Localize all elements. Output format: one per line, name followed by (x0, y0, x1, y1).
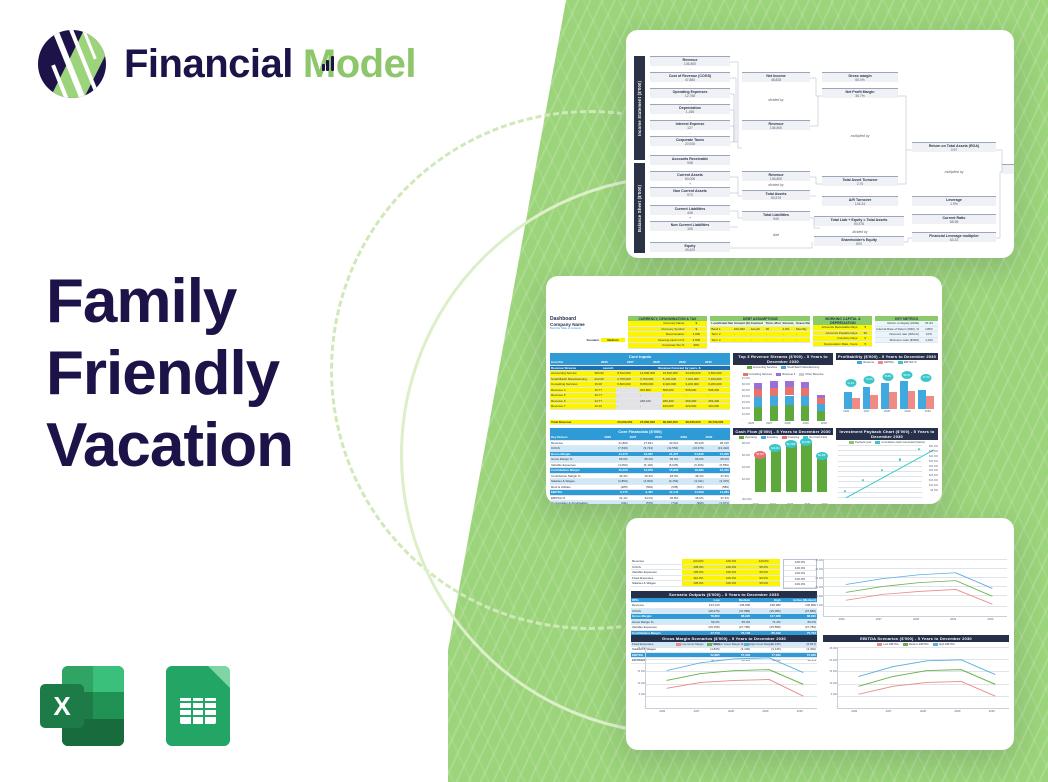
key-metrics-panel: KEY METRICS Return on Equity (ROE)61.03 … (875, 316, 938, 350)
financial-model-logo-icon (36, 28, 108, 100)
node-shareholders-equity: Shareholder's Equity800 (814, 236, 904, 246)
data-label: $12,608 (785, 440, 797, 448)
chart-series-lines (838, 647, 1009, 708)
data-label: 38.0% (901, 371, 912, 379)
data-label: $8,404 (754, 451, 766, 459)
data-label: 31.1% (845, 379, 856, 387)
core-financials-header: Core Financials ($'000) (550, 428, 730, 435)
chart-y-axis-labels: 35,00030,000 25,00020,000 15,0005,000 - (810, 559, 823, 616)
chart-plot-area: $50,000$45,000 $40,000$35,000 $30,000$25… (836, 445, 938, 504)
sheets-doc-body (166, 666, 230, 746)
dashboard-note: Build the Table of Contents (550, 327, 625, 330)
core-financials-table: Core Financials ($'000) Key Drivers20262… (550, 428, 730, 504)
dashboard-screenshot[interactable]: Dashboard Company Name Build the Table o… (546, 276, 942, 504)
brand-wordmark: FinancialModel (124, 42, 416, 87)
chart-legend: Accounting Services Small Batch Manufact… (733, 365, 833, 377)
working-capital-panel: WORKING CAPITAL & DEPRECIATION Accounts … (813, 316, 872, 350)
chart-x-axis-labels: 20262027 20282029 2030 (645, 709, 817, 713)
chart-plot-area: 31.1% 34.0% 36.8% 38.0% 37.3% (840, 365, 938, 409)
sheets-fold-corner (208, 666, 230, 688)
bar (771, 448, 782, 492)
headline-line-2: Friendly (46, 338, 446, 410)
chart-series-lines (646, 647, 817, 708)
chart-plot-area: $8,000$6,000 $4,000$2,000 -($2,000) $8,4… (742, 440, 833, 502)
debt-panel: DEBT ASSUMPTIONS Loan/Grant Name Amount … (710, 316, 810, 350)
scenario-sheet: Revenue(20.0)%100.0%120.0%COGS105.0%100.… (626, 518, 1014, 750)
ebitda-scenarios-chart: EBITDA Scenarios ($'000) - 5 Years to De… (823, 635, 1009, 731)
chart-plot-area: 25,00020,000 15,00010,000 5,000- (837, 647, 1009, 709)
brand-lockup: FinancialModel (36, 28, 416, 100)
bar (817, 456, 828, 492)
brand-word-model: Model (303, 42, 416, 86)
left-content-column: FinancialModel Family Friendly Vacation … (0, 0, 470, 782)
scenario-inputs: Revenue(20.0)%100.0%120.0%COGS105.0%100.… (631, 559, 817, 589)
table-row: Salaries & Wages105.0%100.0%95.0% (631, 581, 780, 587)
working-capital-panel-header: WORKING CAPITAL & DEPRECIATION (813, 316, 872, 325)
excel-icon[interactable]: X (40, 662, 128, 750)
data-label: 37.3% (921, 374, 932, 382)
dupont-flowchart: Income Statement ($'000) Balance Sheet (… (634, 56, 1006, 236)
core-inputs-header: Core Inputs (550, 353, 730, 360)
chart-y-axis-labels: $50,000$45,000 $40,000$35,000 $30,000$25… (923, 445, 938, 497)
chart-title: Top 3 Revenue Streams ($'000) - 5 Years … (733, 353, 833, 365)
excel-x-glyph: X (53, 693, 70, 719)
table-total-row: Total Revenue20,200,00027,800,00039,300,… (550, 420, 730, 426)
chart-plot-area: $7,000$6,000$5,000 $4,000$3,000$2,000 $1… (742, 377, 833, 421)
model-o-bars-icon (322, 54, 335, 71)
dupont-sheet: Income Statement ($'000) Balance Sheet (… (626, 30, 1014, 258)
currency-panel: CURRENCY, DENOMINATION & TAX Currency Na… (628, 316, 708, 350)
scenario-left-column: Revenue(20.0)%100.0%120.0%COGS105.0%100.… (631, 559, 817, 631)
chart-title: Investment Payback Chart ($'000) - 5 Yea… (836, 428, 938, 440)
data-label: $9,308 (816, 452, 828, 460)
chart-title: Cash Flow ($'000) - 5 Years to December … (733, 428, 833, 435)
table-row: Depreciation & Amortisation(411)(576)(74… (550, 501, 730, 504)
scenario-analysis-screenshot[interactable]: Revenue(20.0)%100.0%120.0%COGS105.0%100.… (626, 518, 1014, 750)
investment-payback-chart: Investment Payback Chart ($'000) - 5 Yea… (836, 428, 938, 504)
table-row: Revenue 712.10--420,000420,000420,000 (550, 404, 730, 410)
top-3-revenue-streams-chart: Top 3 Revenue Streams ($'000) - 5 Years … (733, 353, 833, 425)
currency-rows: Currency Name$ Currency Symbol$ Denomina… (628, 321, 708, 349)
table-row: Corporate Tax %30% (628, 343, 708, 349)
core-inputs-rows: Accounting Service384.008,512,00012,800,… (550, 371, 730, 410)
chart-title: EBITDA Scenarios ($'000) - 5 Years to De… (823, 635, 1009, 642)
bar (801, 442, 812, 492)
revenue-scenarios-chart: 35,00030,000 25,00020,000 15,0005,000 - … (823, 559, 1009, 631)
chart-x-axis-labels: 20262027 20282029 2030 (836, 409, 938, 413)
headline-line-3: Vacation (46, 410, 446, 482)
scenario-selector[interactable]: Medium (601, 338, 624, 342)
chart-y-axis-labels: 25,00020,000 15,00010,000 5,000- (631, 647, 645, 708)
chart-title: Gross Margin Scenarios ($'000) - 5 Years… (631, 635, 817, 642)
chart-plot-area: 25,00020,000 15,00010,000 5,000- (645, 647, 817, 709)
chart-plot-area: 35,00030,000 25,00020,000 15,0005,000 - (823, 559, 1007, 617)
chart-x-axis-labels: 20262027 20282029 2030 (742, 421, 833, 425)
data-label: $10,011 (769, 444, 781, 452)
chart-x-axis-labels: 20262027 20282029 2030 (823, 617, 1009, 621)
chart-x-axis-labels: 20262027 20282029 2030 (747, 502, 833, 504)
dupont-analysis-screenshot[interactable]: Income Statement ($'000) Balance Sheet (… (626, 30, 1014, 258)
scenario-table-title: Scenario Outputs ($'000) - 5 Years to De… (631, 591, 817, 598)
sheets-grid-glyph (180, 694, 216, 724)
gross-margin-scenarios-chart: Gross Margin Scenarios ($'000) - 5 Years… (631, 635, 817, 731)
dashboard-title-block: Dashboard Company Name Build the Table o… (550, 316, 625, 350)
dupont-connector-lines (634, 56, 1006, 236)
chart-title: Profitability ($'000) - 5 Years to Decem… (836, 353, 938, 360)
table-row: Depreciation Rate, Years5 (813, 342, 872, 348)
file-format-icons: X (40, 662, 244, 750)
scenario-label: Scenario (587, 338, 600, 342)
chart-series-lines (824, 559, 1007, 616)
data-label: $14,991 (800, 438, 812, 446)
dashboard-sheet: Dashboard Company Name Build the Table o… (546, 276, 942, 504)
bar (786, 444, 797, 492)
brand-word-financial: Financial (124, 42, 293, 86)
data-label: 36.8% (883, 373, 894, 381)
node-equity: Equity49,629 (650, 242, 730, 252)
chart-y-axis-labels: 25,00020,000 15,00010,000 5,000- (823, 647, 837, 708)
table-row: Minimum cash ($'000)1,012 (875, 338, 938, 344)
core-financials-rows: Revenue21,80027,84133,01038,22538,315COG… (550, 441, 730, 505)
page-title: Family Friendly Vacation (46, 266, 446, 482)
bar (755, 455, 766, 492)
core-inputs-table: Core Inputs Cost Per20262027202820292030… (550, 353, 730, 425)
data-label: 34.0% (864, 376, 875, 384)
headline-line-1: Family (46, 266, 446, 338)
excel-x-badge: X (40, 684, 84, 728)
cash-flow-chart: Cash Flow ($'000) - 5 Years to December … (733, 428, 833, 504)
profitability-chart: Profitability ($'000) - 5 Years to Decem… (836, 353, 938, 425)
chart-x-axis-labels: 20262027 20282029 2030 (837, 709, 1009, 713)
table-row: Term 3----- (710, 338, 810, 344)
google-sheets-icon[interactable] (156, 662, 244, 750)
